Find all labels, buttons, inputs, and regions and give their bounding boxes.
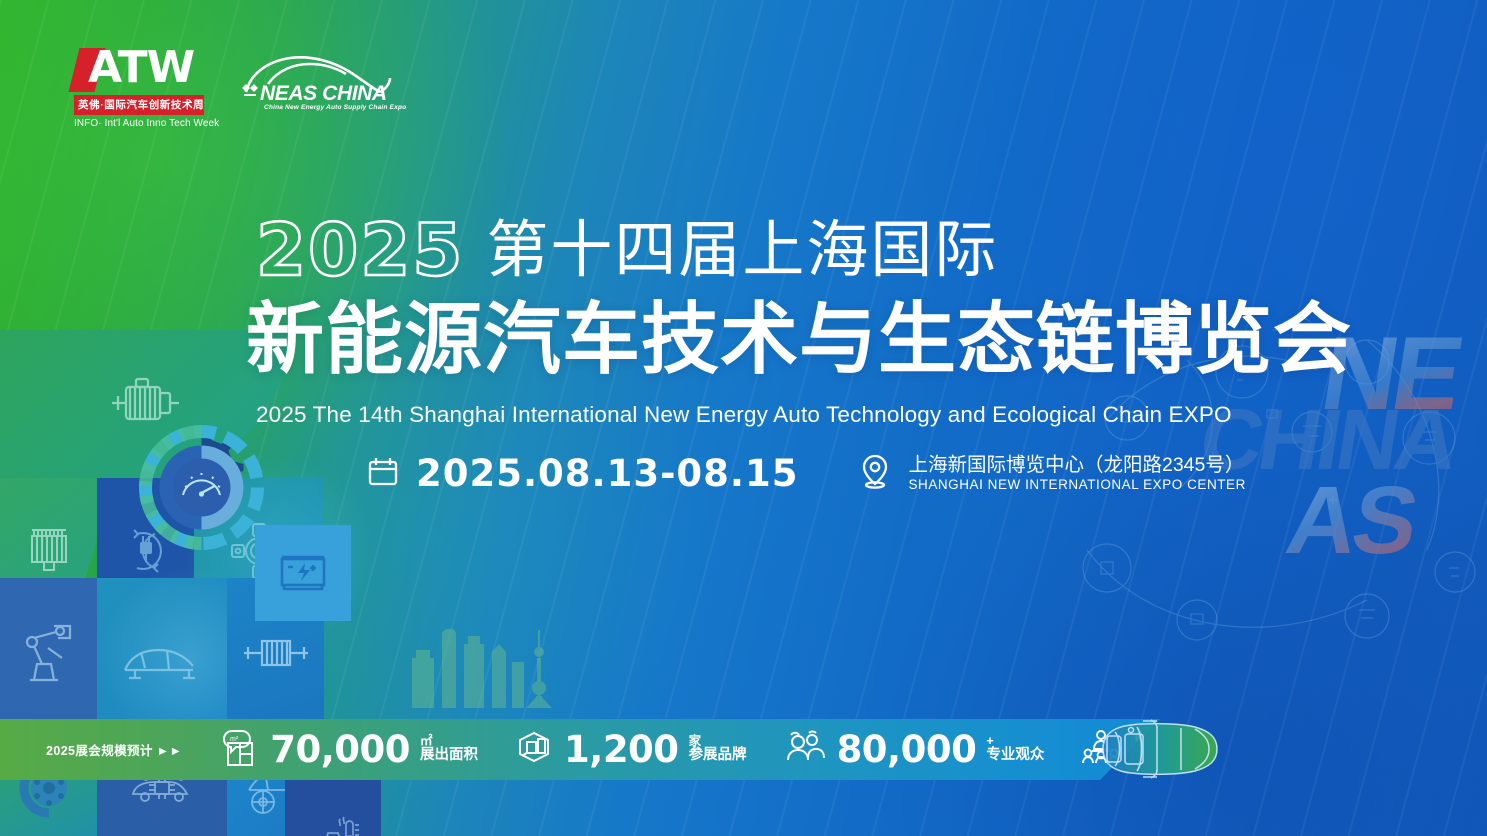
title-year: 2025 — [256, 216, 464, 284]
stats-lead-label: 2025展会规模预计 ►► — [46, 740, 182, 759]
stat-value: 80,000 — [837, 733, 977, 766]
tile-thermal-car — [285, 778, 381, 836]
stat-unit-bottom: 专业观众 — [986, 748, 1044, 763]
alternator-icon — [240, 633, 312, 673]
title-english: 2025 The 14th Shanghai International New… — [256, 402, 1232, 428]
atw-logo-letters: ATW — [88, 44, 194, 92]
title-line-1: 2025 第十四届上海国际 — [256, 216, 998, 284]
neas-checker-icon — [242, 84, 258, 97]
battery-bolt-icon — [274, 549, 332, 597]
header-logos: ATW 英佛·国际汽车创新技术周 INFO· Int'l Auto Inno T… — [74, 46, 398, 129]
stats-bar: 2025展会规模预计 ►► m² 70,000 ㎡ 展出面积 — [0, 719, 1160, 780]
event-date: 2025.08.13-08.15 — [366, 452, 798, 495]
event-venue: 上海新国际博览中心（龙阳路2345号） SHANGHAI NEW INTERNA… — [858, 453, 1245, 494]
neas-china-logo[interactable]: NEAS CHINA China New Energy Auto Supply … — [238, 46, 398, 118]
radiator-icon — [20, 522, 78, 580]
gear-gauge-icon — [139, 425, 264, 550]
thermal-car-icon — [302, 811, 364, 836]
stat-unit-bottom: 展出面积 — [420, 748, 478, 763]
shanghai-skyline-icon — [408, 600, 568, 713]
exhibition-booth-icon — [514, 728, 554, 771]
visitors-group-icon — [783, 729, 827, 770]
event-date-text: 2025.08.13-08.15 — [416, 452, 798, 495]
atw-logo-cn-text: 英佛·国际汽车创新技术周 — [74, 95, 204, 115]
atw-logo[interactable]: ATW 英佛·国际汽车创新技术周 INFO· Int'l Auto Inno T… — [74, 46, 204, 129]
title-line-2: 新能源汽车技术与生态链博览会 — [246, 300, 1352, 381]
car-top-view-icon — [1085, 712, 1235, 787]
stat-value: 70,000 — [270, 733, 410, 766]
floor-plan-icon: m² — [218, 727, 260, 772]
venue-name-en: SHANGHAI NEW INTERNATIONAL EXPO CENTER — [908, 477, 1245, 492]
event-meta-row: 2025.08.13-08.15 上海新国际博览中心（龙阳路2345号） SHA… — [366, 452, 1246, 495]
title-line1-cn: 第十四届上海国际 — [486, 219, 998, 284]
neas-logo-sub: China New Energy Auto Supply Chain Expo — [264, 104, 406, 111]
robot-arm-icon — [18, 620, 80, 686]
neas-logo-word: NEAS CHINA — [260, 83, 387, 104]
tile-robot-arm-icon — [0, 578, 97, 728]
atw-logo-en-text: INFO· Int'l Auto Inno Tech Week — [74, 118, 204, 129]
tile-battery — [255, 525, 351, 621]
venue-name-cn: 上海新国际博览中心（龙阳路2345号） — [908, 455, 1245, 477]
stat-exhibition-area: m² 70,000 ㎡ 展出面积 — [218, 727, 478, 772]
location-pin-icon — [858, 453, 892, 494]
stat-value: 1,200 — [564, 733, 679, 766]
calendar-icon — [366, 454, 400, 493]
stat-exhibitor-brands: 1,200 家 参展品牌 — [514, 728, 747, 771]
svg-text:m²: m² — [230, 736, 239, 743]
poster-root: NE CHINA AS ATW 英佛·国际汽车创新技术周 INFO· Int'l… — [0, 0, 1487, 836]
stat-unit-bottom: 参展品牌 — [689, 748, 747, 763]
stat-professional-visitors: 80,000 + 专业观众 — [783, 729, 1045, 770]
